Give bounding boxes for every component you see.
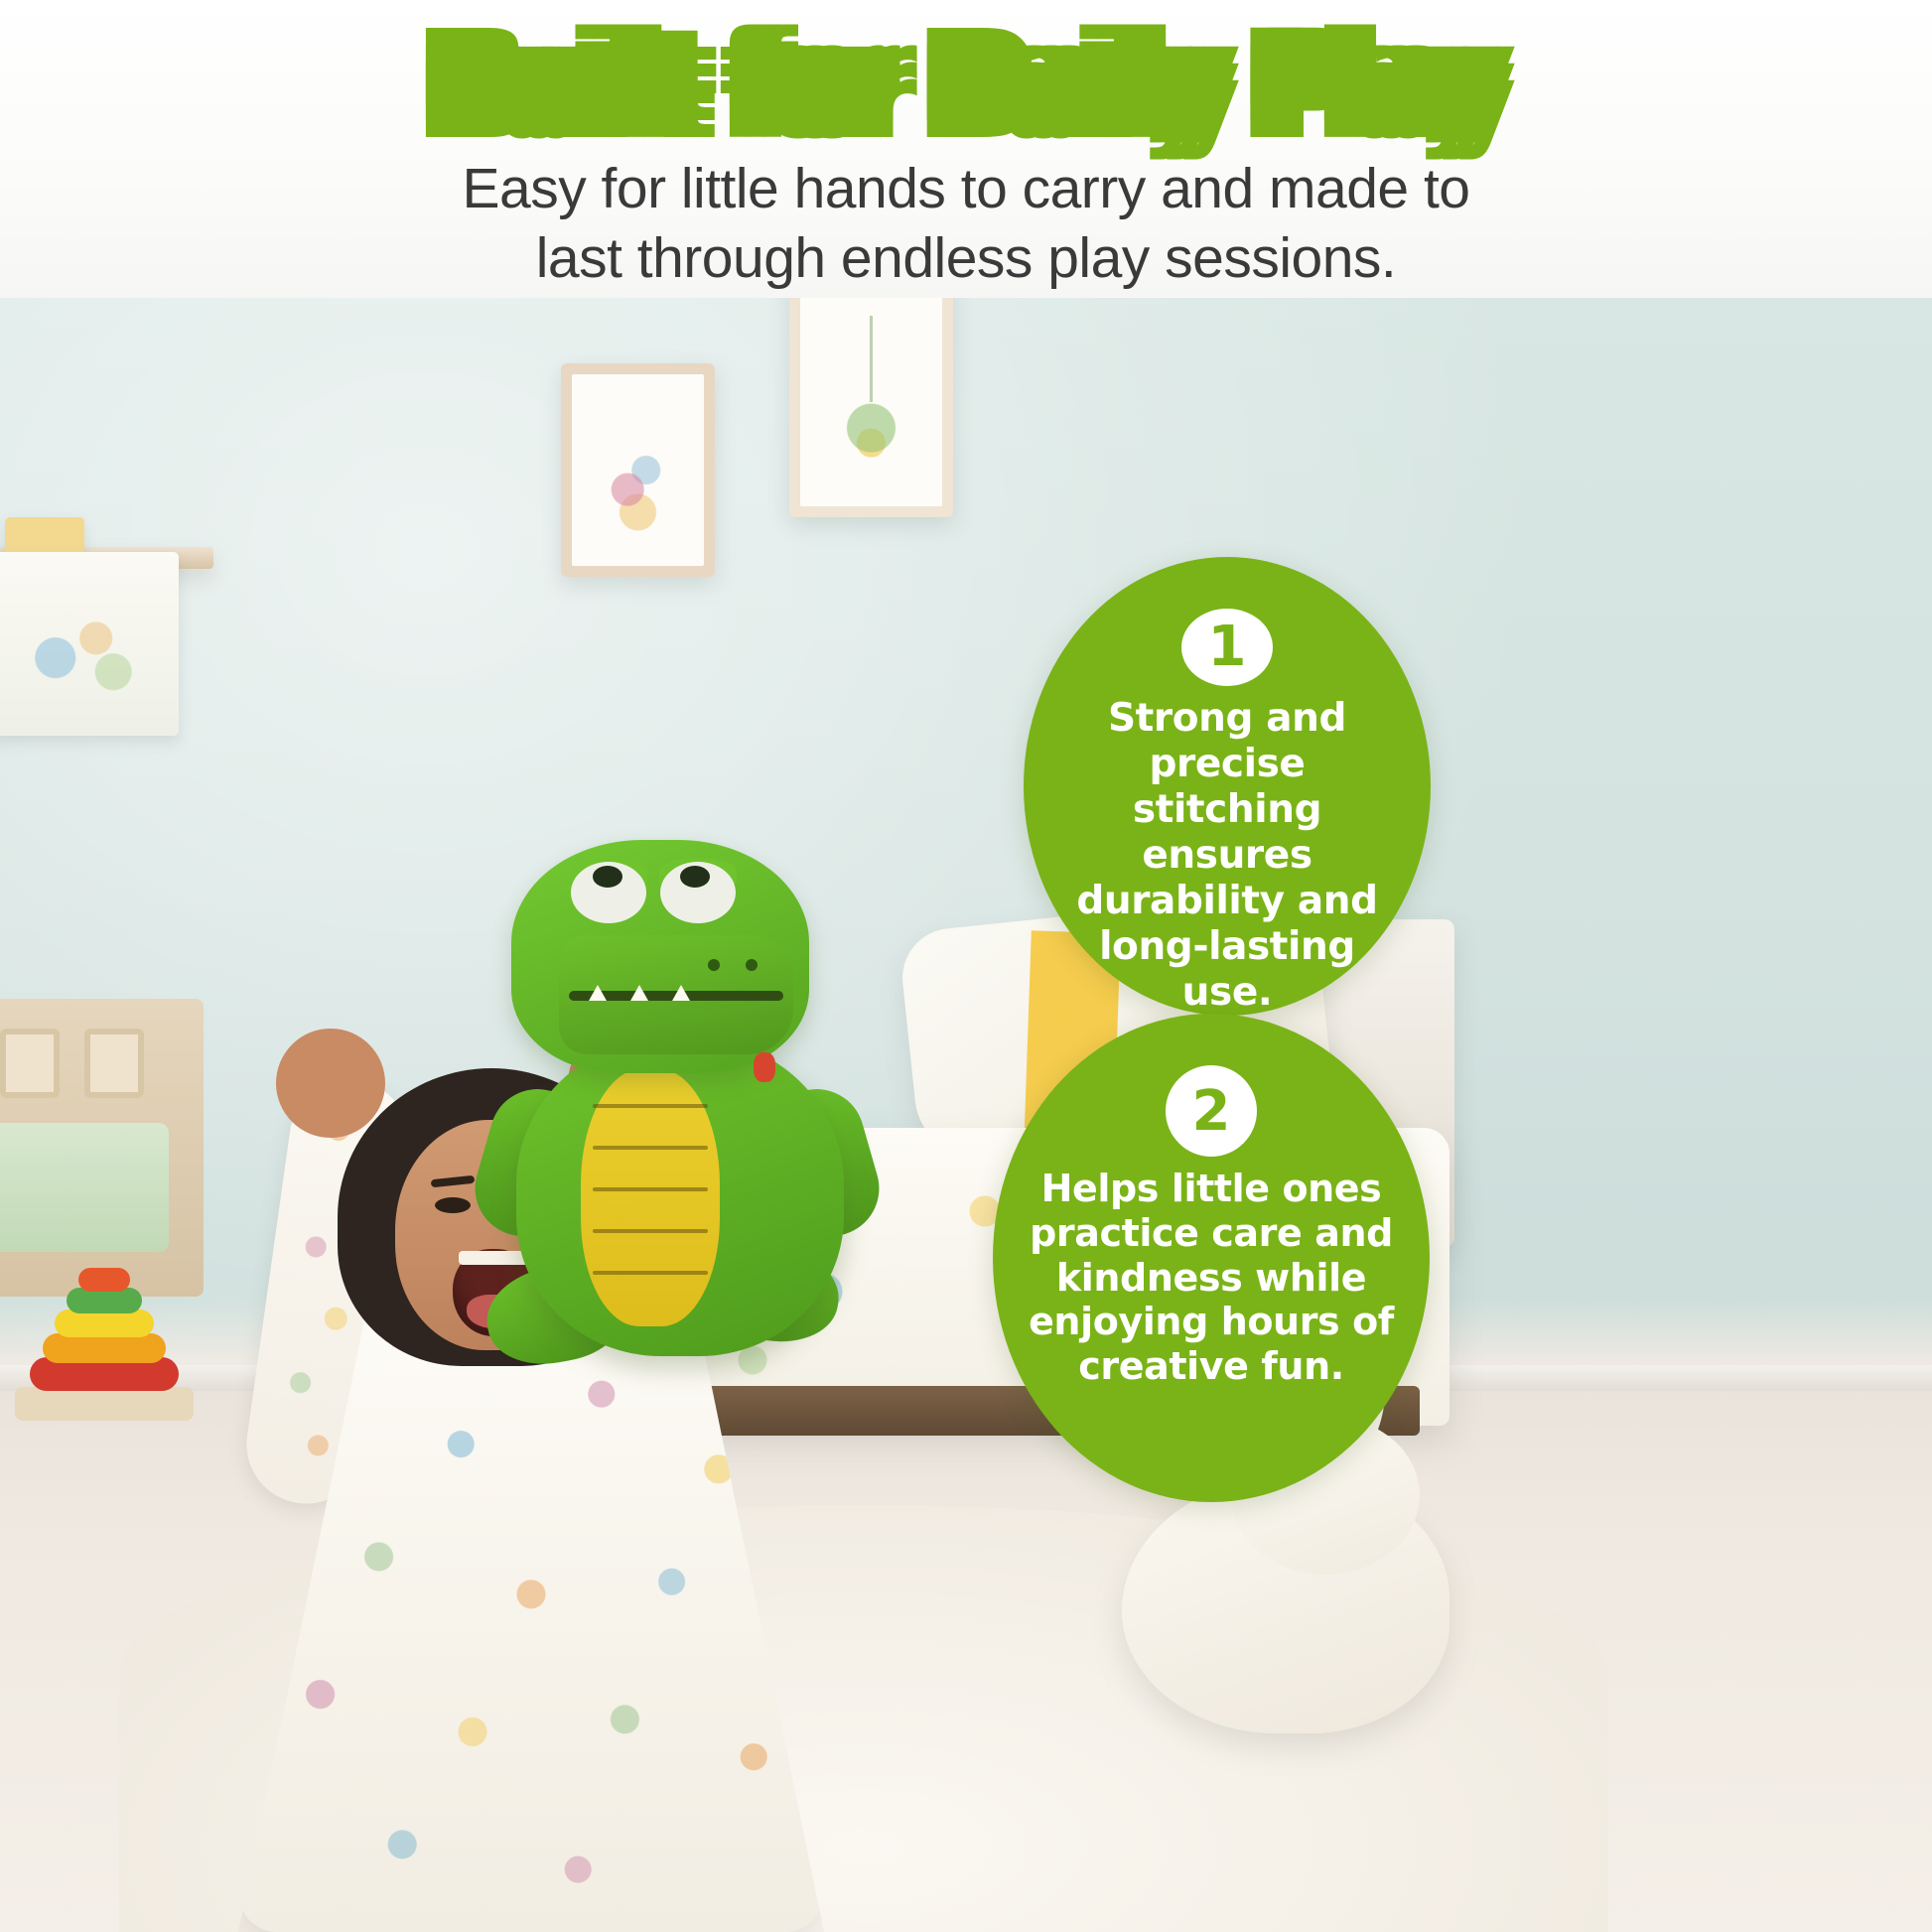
belly-stitch	[593, 1104, 708, 1108]
lifestyle-photo	[0, 264, 1932, 1932]
badge-text-1: Strong and precise stitching ensures dur…	[1024, 696, 1431, 1016]
subtitle-line-1: Easy for little hands to carry and made …	[380, 155, 1552, 224]
badge-text-2: Helps little ones practice care and kind…	[993, 1167, 1430, 1389]
stacker-ring	[43, 1333, 166, 1363]
crocodile-plush-toy	[486, 840, 903, 1396]
frame-artwork	[815, 305, 927, 491]
plush-belly	[581, 1068, 720, 1326]
belly-stitch	[593, 1187, 708, 1191]
eye	[435, 1197, 471, 1213]
product-infographic: Built for Daily Play Easy for little han…	[0, 0, 1932, 1932]
belly-stitch	[593, 1271, 708, 1275]
plush-nostril	[746, 959, 758, 971]
plush-tooth	[630, 985, 648, 1001]
stacker-ring	[78, 1268, 130, 1292]
plush-eye	[680, 866, 710, 888]
page-subtitle: Easy for little hands to carry and made …	[380, 155, 1552, 293]
wall-art-frame-right	[789, 279, 953, 517]
plush-eye	[593, 866, 622, 888]
page-title: Built for Daily Play	[0, 0, 1932, 149]
subtitle-line-2: last through endless play sessions.	[380, 224, 1552, 294]
plush-snout	[559, 935, 793, 1054]
ring-stacker-toy	[15, 1262, 194, 1421]
child-subject	[199, 780, 993, 1932]
plush-tongue	[754, 1052, 775, 1082]
plush-tooth	[589, 985, 607, 1001]
header: Built for Daily Play Easy for little han…	[0, 0, 1932, 298]
belly-stitch	[593, 1229, 708, 1233]
feature-badge-1: 1 Strong and precise stitching ensures d…	[1024, 557, 1431, 1016]
plush-nostril	[708, 959, 720, 971]
plush-tooth	[672, 985, 690, 1001]
badge-number-2: 2	[1166, 1065, 1257, 1157]
badge-number-1: 1	[1181, 609, 1273, 686]
block-face	[0, 1029, 60, 1098]
belly-stitch	[593, 1146, 708, 1150]
green-storage-box	[0, 1123, 169, 1252]
feature-badge-2: 2 Helps little ones practice care and ki…	[993, 1014, 1430, 1502]
picture-book	[0, 552, 179, 736]
plush-head	[511, 840, 809, 1073]
wall-art-frame-left	[561, 363, 715, 577]
stacker-ring	[55, 1310, 154, 1337]
block-face	[84, 1029, 144, 1098]
eyebrow	[431, 1175, 476, 1188]
stacker-base	[15, 1387, 194, 1421]
frame-artwork	[587, 389, 689, 551]
